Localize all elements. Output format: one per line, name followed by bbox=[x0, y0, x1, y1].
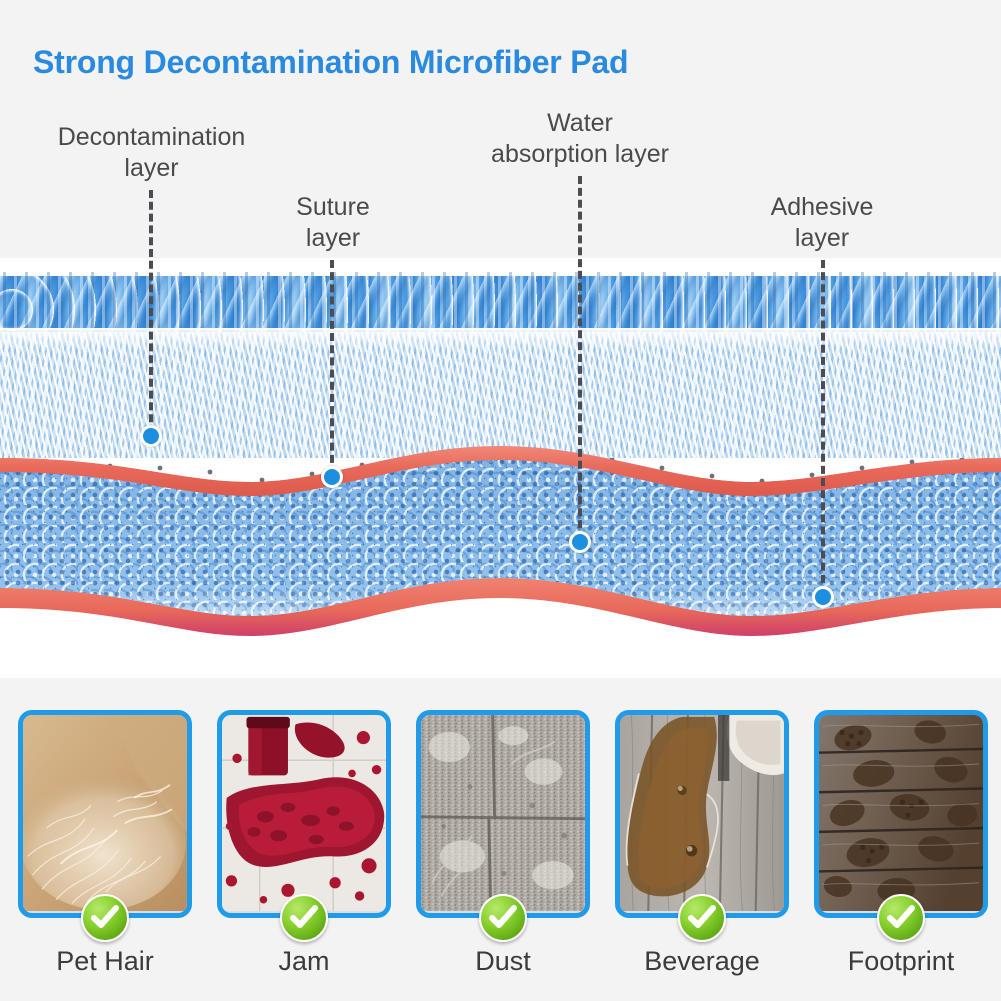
leader-line-decontamination bbox=[149, 190, 153, 434]
marker-dot-decontamination bbox=[140, 425, 162, 447]
leader-line-suture bbox=[330, 260, 334, 475]
adhesive-band-overlay bbox=[0, 580, 1001, 636]
check-badge-jam bbox=[280, 894, 328, 942]
marker-dot-water-absorption bbox=[569, 531, 591, 553]
footprint-photo-art bbox=[819, 715, 983, 911]
dust-photo-art bbox=[421, 715, 585, 911]
use-case-pet-hair: Pet Hair bbox=[18, 710, 192, 918]
use-case-dust: Dust bbox=[416, 710, 590, 918]
use-case-caption-beverage: Beverage bbox=[615, 946, 789, 977]
use-case-caption-jam: Jam bbox=[217, 946, 391, 977]
callout-label-water-absorption: Water absorption layer bbox=[452, 108, 708, 169]
marker-dot-adhesive bbox=[812, 586, 834, 608]
check-icon bbox=[290, 905, 318, 931]
check-badge-dust bbox=[479, 894, 527, 942]
use-case-photo-beverage bbox=[615, 710, 789, 918]
use-case-photo-dust bbox=[416, 710, 590, 918]
use-case-footprint: Footprint bbox=[814, 710, 988, 918]
callout-label-decontamination: Decontamination layer bbox=[34, 122, 269, 183]
leader-line-water-absorption bbox=[578, 176, 582, 540]
check-badge-footprint bbox=[877, 894, 925, 942]
use-case-caption-dust: Dust bbox=[416, 946, 590, 977]
leader-line-adhesive bbox=[821, 260, 825, 595]
pet-hair-photo-art bbox=[23, 715, 187, 911]
page-title: Strong Decontamination Microfiber Pad bbox=[33, 44, 628, 81]
suture-band-overlay bbox=[0, 446, 1001, 496]
infographic-page: Strong Decontamination Microfiber Pad bbox=[0, 0, 1001, 1001]
check-badge-beverage bbox=[678, 894, 726, 942]
check-icon bbox=[489, 905, 517, 931]
beverage-photo-art bbox=[620, 715, 784, 911]
jam-photo-art bbox=[222, 715, 386, 911]
use-case-caption-footprint: Footprint bbox=[814, 946, 988, 977]
callout-label-suture: Suture layer bbox=[238, 192, 428, 253]
check-icon bbox=[91, 905, 119, 931]
check-badge-pet-hair bbox=[81, 894, 129, 942]
check-icon bbox=[688, 905, 716, 931]
use-case-photo-pet-hair bbox=[18, 710, 192, 918]
use-case-photo-footprint bbox=[814, 710, 988, 918]
use-case-caption-pet-hair: Pet Hair bbox=[18, 946, 192, 977]
marker-dot-suture bbox=[321, 466, 343, 488]
use-case-jam: Jam bbox=[217, 710, 391, 918]
use-case-strip: Pet Hair bbox=[0, 678, 1001, 1001]
use-case-photo-jam bbox=[217, 710, 391, 918]
check-icon bbox=[887, 905, 915, 931]
use-case-beverage: Beverage bbox=[615, 710, 789, 918]
callout-label-adhesive: Adhesive layer bbox=[727, 192, 917, 253]
